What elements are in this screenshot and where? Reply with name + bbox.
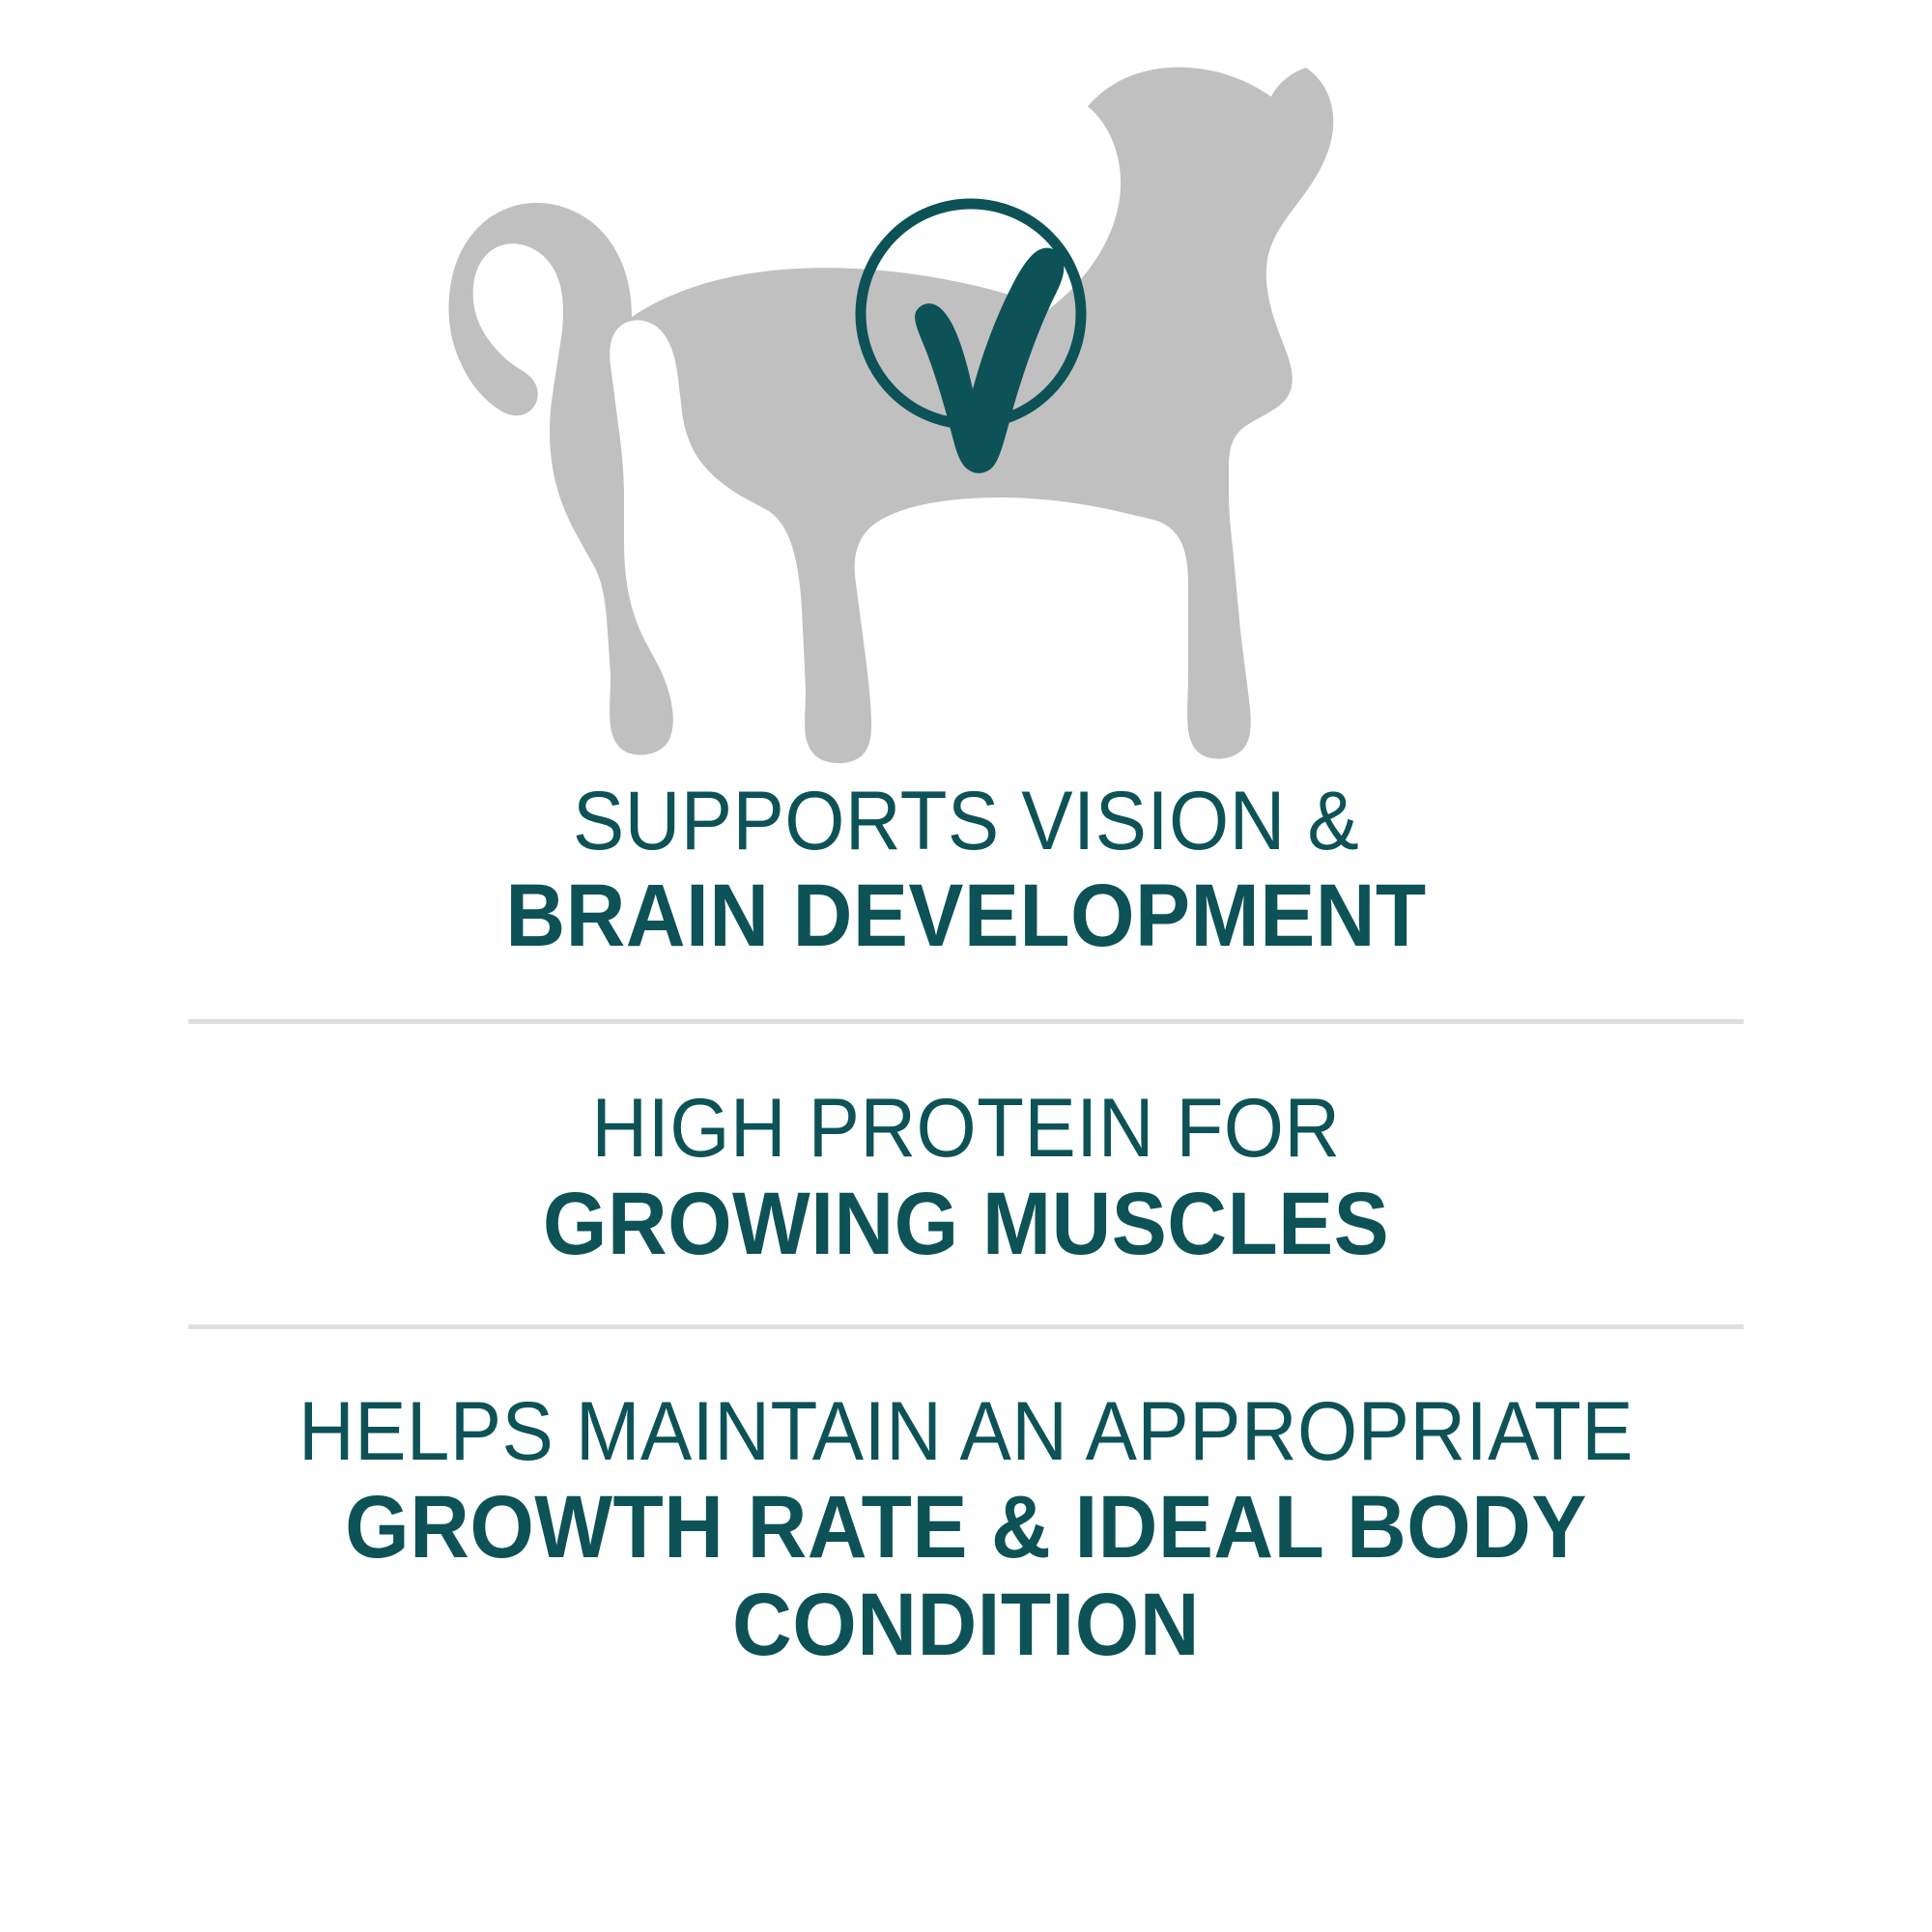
benefit-growth-line-3: CONDITION (68, 1579, 1864, 1672)
benefit-item-growth: HELPS MAINTAIN AN APPROPRIATE GROWTH RAT… (0, 1329, 1932, 1672)
dog-silhouette (449, 68, 1334, 763)
benefit-protein-line-1: HIGH PROTEIN FOR (68, 1086, 1864, 1172)
benefits-list: SUPPORTS VISION & BRAIN DEVELOPMENT HIGH… (0, 773, 1932, 1672)
hero-illustration (0, 39, 1932, 782)
benefit-growth-line-2: GROWTH RATE & IDEAL BODY (68, 1482, 1864, 1575)
benefits-infographic: SUPPORTS VISION & BRAIN DEVELOPMENT HIGH… (0, 0, 1932, 1932)
benefit-vision-line-2: BRAIN DEVELOPMENT (68, 870, 1864, 963)
benefit-item-vision: SUPPORTS VISION & BRAIN DEVELOPMENT (0, 773, 1932, 963)
benefit-item-protein: HIGH PROTEIN FOR GROWING MUSCLES (0, 1024, 1932, 1270)
benefit-protein-line-2: GROWING MUSCLES (68, 1179, 1864, 1271)
dog-with-checkmark-graphic (0, 39, 1932, 782)
benefit-vision-line-1: SUPPORTS VISION & (68, 779, 1864, 865)
benefit-growth-line-1: HELPS MAINTAIN AN APPROPRIATE (68, 1389, 1864, 1475)
